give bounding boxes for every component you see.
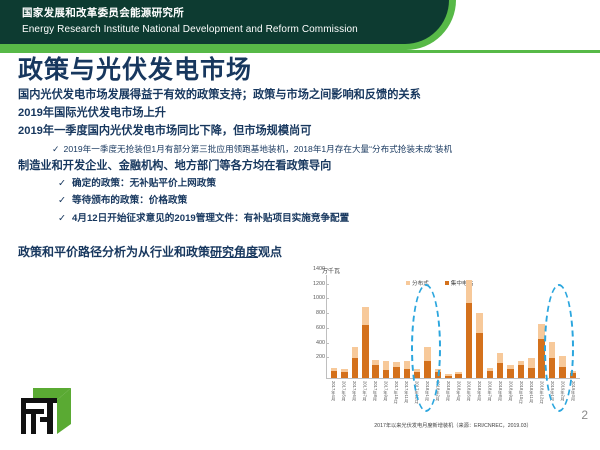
y-axis-tick: 1400 — [313, 266, 327, 272]
y-axis-tick: 200 — [316, 354, 327, 360]
check-icon: ✓ — [52, 144, 60, 154]
bar-segment-centralized — [497, 363, 503, 378]
header-underline — [0, 50, 600, 53]
stacked-bar — [352, 347, 358, 378]
x-axis-tick-label: 2018年12月 — [536, 381, 546, 407]
bar-segment-centralized — [445, 376, 451, 378]
stacked-bar — [383, 361, 389, 378]
stacked-bar — [341, 369, 347, 378]
y-axis-tick: 1000 — [313, 295, 327, 301]
check-icon: ✓ — [58, 195, 66, 206]
bar-column — [505, 275, 515, 378]
highlight-ellipse-2018-jan — [411, 284, 441, 412]
bar-segment-centralized — [383, 370, 389, 378]
bar-column — [495, 275, 505, 378]
bar-column — [339, 275, 349, 378]
bar-segment-centralized — [331, 371, 337, 378]
x-axis-tick-label: 2018年9月 — [505, 381, 515, 407]
slide-root: 国家发展和改革委员会能源研究所 Energy Research Institut… — [0, 0, 600, 450]
bar-column — [371, 275, 381, 378]
bullet-l1-0: 国内光伏发电市场发展得益于有效的政策支持；政策与市场之间影响和反馈的关系 — [18, 87, 600, 104]
bar-segment-centralized — [518, 365, 524, 378]
highlight-ellipse-2019-jan — [544, 284, 574, 412]
x-axis-tick-label: 2018年4月 — [453, 381, 463, 407]
bullet-l1-2: 2019年一季度国内光伏发电市场同比下降，但市场规模尚可 — [18, 123, 600, 140]
bar-column — [443, 275, 453, 378]
check-icon: ✓ — [58, 213, 66, 224]
org-name-en: Energy Research Institute National Devel… — [22, 23, 358, 37]
chart-bars — [327, 275, 580, 378]
bar-column — [474, 275, 484, 378]
x-axis-tick-label: 2017年11月 — [401, 381, 411, 407]
x-axis-tick-label: 2017年5月 — [338, 381, 348, 407]
bar-column — [454, 275, 464, 378]
bar-column — [381, 275, 391, 378]
stacked-bar — [476, 313, 482, 378]
bar-column — [350, 275, 360, 378]
eri-logo-icon — [13, 384, 75, 436]
closing-statement: 政策和平价路径分析为从行业和政策研究角度观点 — [18, 243, 600, 260]
bar-column — [485, 275, 495, 378]
bar-segment-centralized — [362, 325, 368, 378]
chart-caption: 2017年以来光伏发电月度新增装机（来源：ERI/CNREC，2019.03） — [328, 422, 578, 429]
stacked-bar — [455, 372, 461, 378]
policy-item-label: 等待颁布的政策：价格政策 — [72, 195, 187, 206]
stacked-bar — [404, 361, 410, 378]
x-axis-tick-label: 2017年6月 — [349, 381, 359, 407]
sub-note-label: 2019年一季度无抢装但1月有部分第三批应用领跑基地装机，2018年1月存在大量… — [64, 144, 453, 154]
stacked-bar — [372, 360, 378, 378]
closing-pre: 政策和平价路径分析为从行业和政策 — [18, 245, 210, 259]
x-axis-tick-label: 2018年11月 — [526, 381, 536, 407]
stacked-bar — [497, 353, 503, 378]
stacked-bar — [393, 362, 399, 378]
stacked-bar — [487, 368, 493, 378]
page-title: 政策与光伏发电市场 — [18, 56, 600, 85]
header-text: 国家发展和改革委员会能源研究所 Energy Research Institut… — [22, 6, 358, 37]
bar-column — [464, 275, 474, 378]
x-axis-tick-label: 2018年6月 — [474, 381, 484, 407]
bullet-l1-1: 2019年国际光伏发电市场上升 — [18, 105, 600, 122]
stacked-bar — [528, 358, 534, 378]
stacked-bar — [518, 361, 524, 378]
policy-item-label: 4月12日开始征求意见的2019管理文件：有补贴项目实施竞争配置 — [72, 213, 349, 224]
org-name-cn: 国家发展和改革委员会能源研究所 — [22, 6, 358, 20]
slide-content: 政策与光伏发电市场 国内光伏发电市场发展得益于有效的政策支持；政策与市场之间影响… — [0, 56, 600, 260]
bar-segment-centralized — [487, 371, 493, 378]
bar-segment-distributed — [362, 307, 368, 325]
chart-container: 万千瓦 分布式 集中电站 140012001000800600400200 20… — [300, 266, 592, 444]
stacked-bar — [507, 365, 513, 378]
bar-column — [329, 275, 339, 378]
bar-segment-centralized — [393, 367, 399, 378]
stacked-bar — [362, 307, 368, 378]
stacked-bar — [466, 280, 472, 378]
bar-segment-centralized — [341, 372, 347, 378]
x-axis-tick-label: 2018年5月 — [463, 381, 473, 407]
bar-segment-centralized — [476, 333, 482, 378]
bar-segment-centralized — [528, 368, 534, 378]
bar-segment-centralized — [404, 369, 410, 378]
bar-segment-centralized — [352, 358, 358, 378]
check-icon: ✓ — [58, 178, 66, 189]
bar-segment-distributed — [497, 353, 503, 363]
x-axis-tick-label: 2017年4月 — [328, 381, 338, 407]
x-axis-tick-label: 2018年10月 — [516, 381, 526, 407]
bar-column — [516, 275, 526, 378]
bar-segment-distributed — [528, 358, 534, 368]
x-axis-tick-label: 2017年9月 — [380, 381, 390, 407]
closing-post: 观点 — [258, 245, 282, 259]
x-axis-tick-label: 2018年3月 — [443, 381, 453, 407]
y-axis-tick: 400 — [316, 340, 327, 346]
bar-segment-centralized — [372, 365, 378, 378]
x-axis-tick-label: 2017年10月 — [391, 381, 401, 407]
bar-segment-distributed — [466, 280, 472, 303]
policy-item-1: ✓等待颁布的政策：价格政策 — [58, 193, 600, 210]
bar-column — [360, 275, 370, 378]
chart-plot-area: 140012001000800600400200 — [326, 275, 580, 379]
bar-segment-distributed — [476, 313, 482, 332]
y-axis-tick: 1200 — [313, 281, 327, 287]
policy-item-2: ✓4月12日开始征求意见的2019管理文件：有补贴项目实施竞争配置 — [58, 211, 600, 228]
bar-segment-centralized — [507, 369, 513, 378]
policy-item-0: ✓确定的政策：无补贴平价上网政策 — [58, 176, 600, 193]
bar-segment-distributed — [352, 347, 358, 359]
bar-segment-distributed — [383, 361, 389, 370]
x-axis-tick-label: 2018年8月 — [495, 381, 505, 407]
stacked-bar — [331, 368, 337, 378]
stacked-bar — [445, 374, 451, 378]
bar-column — [391, 275, 401, 378]
x-axis-tick-label: 2018年7月 — [484, 381, 494, 407]
bullet-l1-3: 制造业和开发企业、金融机构、地方部门等各方均在看政策导向 — [18, 158, 600, 175]
y-axis-tick: 800 — [316, 310, 327, 316]
closing-underlined: 研究角度 — [210, 245, 258, 259]
bar-segment-centralized — [455, 374, 461, 378]
bar-segment-distributed — [404, 361, 410, 369]
y-axis-tick: 600 — [316, 325, 327, 331]
x-axis-tick-label: 2017年8月 — [370, 381, 380, 407]
chart-x-axis: 2017年4月2017年5月2017年6月2017年7月2017年8月2017年… — [326, 381, 580, 407]
policy-item-label: 确定的政策：无补贴平价上网政策 — [72, 178, 216, 189]
bar-column — [526, 275, 536, 378]
sub-note: ✓2019年一季度无抢装但1月有部分第三批应用领跑基地装机，2018年1月存在大… — [52, 142, 600, 157]
bar-segment-centralized — [466, 303, 472, 378]
x-axis-tick-label: 2017年7月 — [359, 381, 369, 407]
